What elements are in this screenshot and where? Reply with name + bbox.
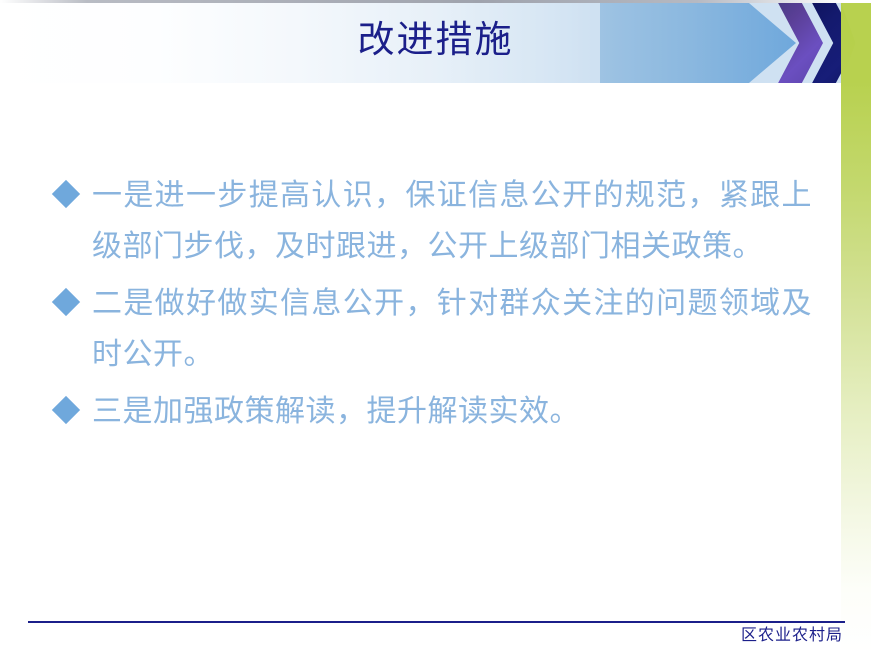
bullet-item: 二是做好做实信息公开，针对群众关注的问题领域及时公开。 [52, 278, 812, 380]
bullet-item: 三是加强政策解读，提升解读实效。 [52, 386, 812, 437]
footer-organization-name: 区农业农村局 [741, 625, 843, 647]
bullet-item-text: 一是进一步提高认识，保证信息公开的规范，紧跟上级部门步伐，及时跟进，公开上级部门… [52, 170, 812, 272]
right-green-accent-bar [841, 3, 871, 654]
footer-divider-line [28, 621, 845, 623]
bullet-item-text: 三是加强政策解读，提升解读实效。 [52, 386, 812, 437]
presentation-slide: 改进措施 一是进一步提高认识，保证信息公开的规范，紧跟上级部门步伐，及时跟进，公… [0, 0, 871, 654]
bullet-item-text: 二是做好做实信息公开，针对群众关注的问题领域及时公开。 [52, 278, 812, 380]
slide-body-content: 一是进一步提高认识，保证信息公开的规范，紧跟上级部门步伐，及时跟进，公开上级部门… [52, 170, 812, 447]
slide-title: 改进措施 [0, 16, 871, 66]
bullet-item: 一是进一步提高认识，保证信息公开的规范，紧跟上级部门步伐，及时跟进，公开上级部门… [52, 170, 812, 272]
